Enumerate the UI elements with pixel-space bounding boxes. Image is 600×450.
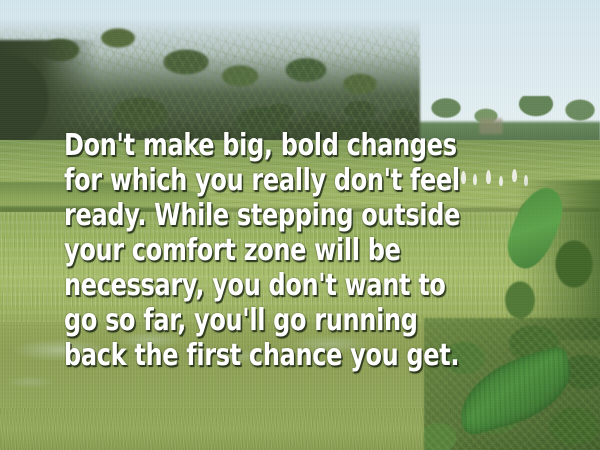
quote-image: Don't make big, bold changes for which y…	[0, 0, 600, 450]
egret-bird	[473, 174, 477, 185]
egret-bird	[447, 178, 451, 188]
egret-bird	[461, 171, 466, 184]
egret-bird	[486, 170, 491, 184]
